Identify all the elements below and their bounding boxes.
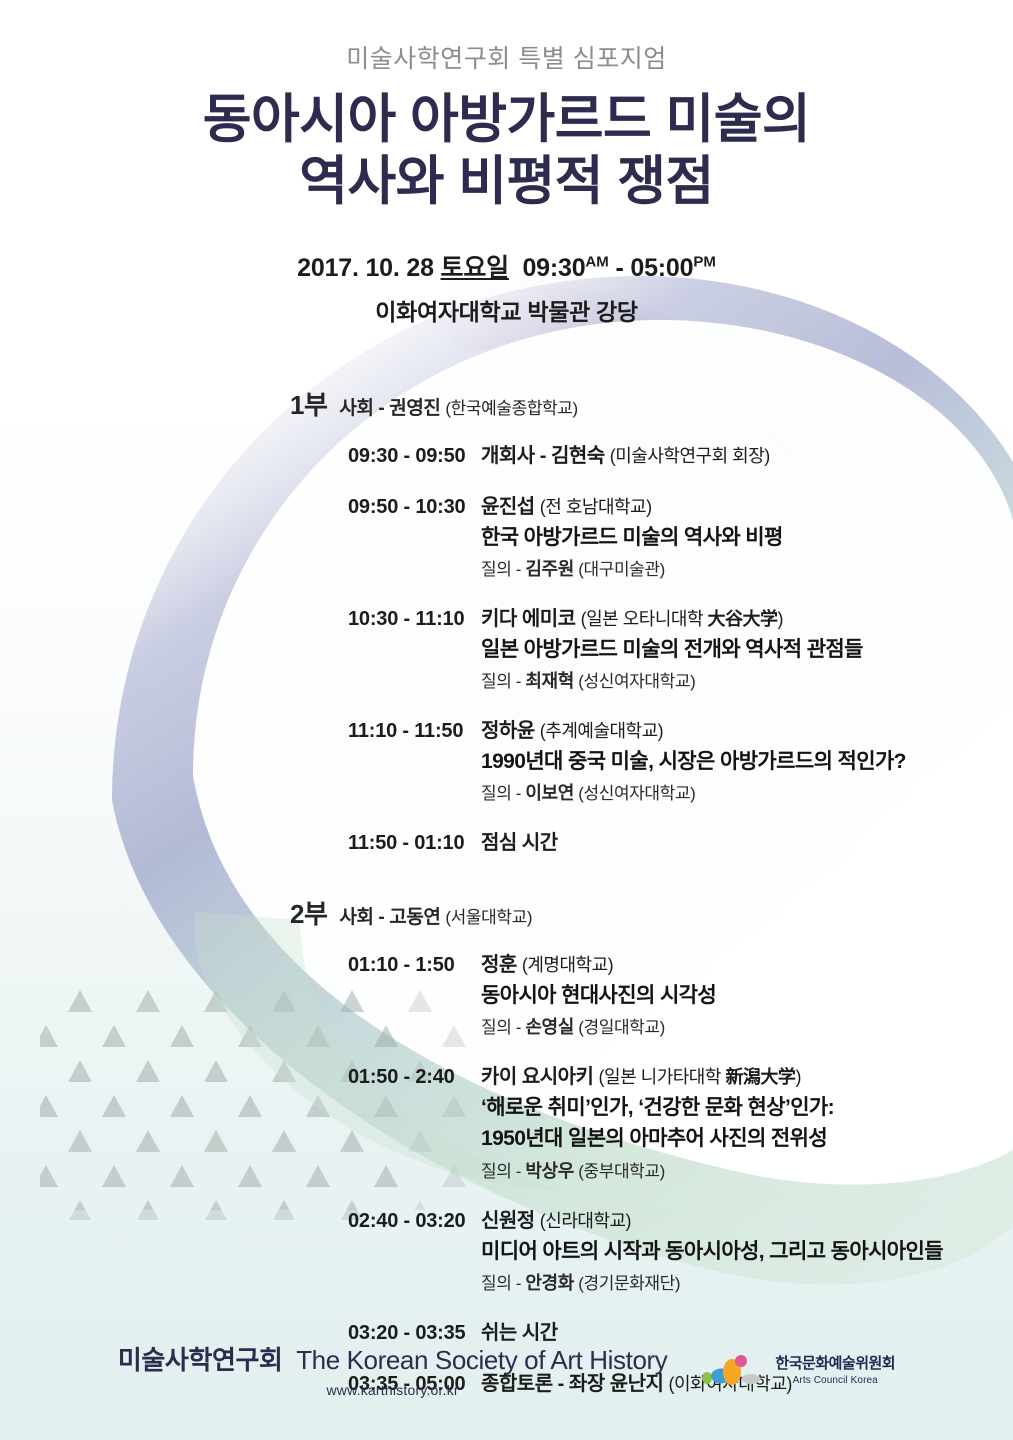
- session-row-list: 09:30 - 09:50개회사 - 김현숙 (미술사학연구회 회장)09:50…: [0, 442, 1013, 858]
- society-name: 미술사학연구회 The Korean Society of Art Histor…: [118, 1340, 668, 1377]
- part-chair-affiliation: (한국예술종합학교): [445, 399, 577, 418]
- society-url[interactable]: www.karthistory.or.kr: [118, 1382, 668, 1398]
- discussant-affiliation: (경기문화재단): [578, 1274, 680, 1293]
- session-paper-title: ‘해로운 취미’인가, ‘건강한 문화 현상’인가:: [481, 1093, 1013, 1123]
- sponsor-name-en: Arts Council Korea: [775, 1375, 895, 1386]
- discussant-affiliation: (성신여자대학교): [578, 672, 695, 691]
- session-speaker: 카이 요시아키 (일본 니가타대학 新潟大学): [481, 1063, 1013, 1092]
- part-header: 2부사회 - 고동연 (서울대학교): [290, 894, 1013, 931]
- kicker-text: 미술사학연구회 특별 심포지엄: [0, 44, 1013, 75]
- session-detail: 카이 요시아키 (일본 니가타대학 新潟大学)‘해로운 취미’인가, ‘건강한 …: [481, 1063, 1013, 1185]
- event-time-start-suffix: AM: [585, 253, 608, 270]
- event-time-end: 05:00: [630, 254, 693, 282]
- part-number: 1부: [290, 385, 327, 422]
- event-time-start: 09:30: [522, 254, 585, 282]
- sponsor-text: 한국문화예술위원회 Arts Council Korea: [775, 1356, 895, 1386]
- part-chair: 사회 - 고동연 (서울대학교): [339, 902, 532, 929]
- event-datetime: 2017. 10. 28 토요일 09:30AM - 05:00PM: [0, 248, 1013, 284]
- programme-part: 1부사회 - 권영진 (한국예술종합학교)09:30 - 09:50개회사 - …: [0, 385, 1013, 858]
- speaker-affiliation: (일본 니가타대학 新潟大学): [599, 1067, 801, 1087]
- discussant-name: 최재혁: [525, 671, 573, 691]
- event-venue: 이화여자대학교 박물관 강당: [0, 293, 1013, 327]
- part-header: 1부사회 - 권영진 (한국예술종합학교): [290, 385, 1013, 422]
- session-row: 01:50 - 2:40카이 요시아키 (일본 니가타대학 新潟大学)‘해로운 …: [0, 1063, 1013, 1185]
- session-speaker: 신원정 (신라대학교): [481, 1207, 1013, 1236]
- session-detail: 개회사 - 김현숙 (미술사학연구회 회장): [481, 442, 1013, 471]
- discussant-name: 이보연: [525, 783, 573, 803]
- sponsor-logo: 한국문화예술위원회 Arts Council Korea: [701, 1353, 895, 1389]
- session-time: 01:50 - 2:40: [348, 1063, 481, 1092]
- session-affiliation: (미술사학연구회 회장): [610, 446, 770, 466]
- session-speaker: 정하윤 (추계예술대학교): [481, 717, 1013, 746]
- session-paper-title: 한국 아방가르드 미술의 역사와 비평: [481, 523, 1013, 553]
- session-speaker: 정훈 (계명대학교): [481, 951, 1013, 980]
- part-chair-affiliation: (서울대학교): [445, 908, 532, 927]
- session-paper-title-line2: 1950년대 일본의 아마추어 사진의 전위성: [481, 1124, 1013, 1154]
- session-plain-text: 점심 시간: [481, 829, 1013, 858]
- session-discussant: 질의 - 손영실 (경일대학교): [481, 1014, 1013, 1041]
- page-title: 동아시아 아방가르드 미술의 역사와 비평적 쟁점: [0, 89, 1013, 212]
- session-time: 09:50 - 10:30: [348, 493, 481, 522]
- poster-root: 미술사학연구회 특별 심포지엄 동아시아 아방가르드 미술의 역사와 비평적 쟁…: [0, 0, 1013, 1440]
- session-row: 11:10 - 11:50정하윤 (추계예술대학교)1990년대 중국 미술, …: [0, 717, 1013, 807]
- event-date: 2017. 10. 28: [297, 254, 434, 282]
- session-row: 09:30 - 09:50개회사 - 김현숙 (미술사학연구회 회장): [0, 442, 1013, 471]
- discussant-affiliation: (중부대학교): [578, 1162, 665, 1181]
- session-time: 11:10 - 11:50: [348, 717, 481, 746]
- part-number: 2부: [290, 894, 327, 931]
- title-line-2: 역사와 비평적 쟁점: [0, 151, 1013, 212]
- session-detail: 점심 시간: [481, 829, 1013, 858]
- event-time-end-suffix: PM: [693, 253, 716, 270]
- session-row-list: 01:10 - 1:50정훈 (계명대학교)동아시아 현대사진의 시각성질의 -…: [0, 951, 1013, 1399]
- sponsor-name-ko: 한국문화예술위원회: [775, 1356, 895, 1373]
- session-detail: 신원정 (신라대학교)미디어 아트의 시작과 동아시아성, 그리고 동아시아인들…: [481, 1207, 1013, 1297]
- session-discussant: 질의 - 김주원 (대구미술관): [481, 556, 1013, 583]
- session-speaker: 키다 에미코 (일본 오타니대학 大谷大学): [481, 605, 1013, 634]
- society-block: 미술사학연구회 The Korean Society of Art Histor…: [118, 1340, 668, 1398]
- session-plain-text: 개회사 - 김현숙 (미술사학연구회 회장): [481, 442, 1013, 471]
- session-paper-title: 일본 아방가르드 미술의 전개와 역사적 관점들: [481, 635, 1013, 665]
- programme-schedule: 1부사회 - 권영진 (한국예술종합학교)09:30 - 09:50개회사 - …: [0, 385, 1013, 1399]
- society-name-en: The Korean Society of Art History: [296, 1345, 667, 1375]
- discussant-name: 박상우: [525, 1161, 573, 1181]
- speaker-affiliation: (일본 오타니대학 大谷大学): [581, 609, 783, 629]
- session-time: 01:10 - 1:50: [348, 951, 481, 980]
- speaker-affiliation: (신라대학교): [540, 1211, 631, 1231]
- speaker-affiliation-cjk: 新潟大学: [725, 1067, 795, 1087]
- session-detail: 정하윤 (추계예술대학교)1990년대 중국 미술, 시장은 아방가르드의 적인…: [481, 717, 1013, 807]
- session-time: 02:40 - 03:20: [348, 1207, 481, 1236]
- session-time: 10:30 - 11:10: [348, 605, 481, 634]
- session-discussant: 질의 - 최재혁 (성신여자대학교): [481, 668, 1013, 695]
- session-time: 09:30 - 09:50: [348, 442, 481, 471]
- session-row: 11:50 - 01:10점심 시간: [0, 829, 1013, 858]
- session-time: 11:50 - 01:10: [348, 829, 481, 858]
- session-discussant: 질의 - 이보연 (성신여자대학교): [481, 780, 1013, 807]
- speaker-affiliation: (추계예술대학교): [540, 721, 663, 741]
- session-row: 09:50 - 10:30윤진섭 (전 호남대학교)한국 아방가르드 미술의 역…: [0, 493, 1013, 583]
- session-discussant: 질의 - 안경화 (경기문화재단): [481, 1270, 1013, 1297]
- session-speaker: 윤진섭 (전 호남대학교): [481, 493, 1013, 522]
- event-time-dash: -: [615, 254, 623, 282]
- speaker-affiliation: (전 호남대학교): [540, 497, 652, 517]
- discussant-name: 안경화: [525, 1273, 573, 1293]
- part-chair: 사회 - 권영진 (한국예술종합학교): [339, 393, 577, 420]
- discussant-affiliation: (대구미술관): [578, 560, 665, 579]
- discussant-affiliation: (성신여자대학교): [578, 784, 695, 803]
- session-discussant: 질의 - 박상우 (중부대학교): [481, 1158, 1013, 1185]
- poster-footer: 미술사학연구회 The Korean Society of Art Histor…: [0, 1340, 1013, 1398]
- session-detail: 정훈 (계명대학교)동아시아 현대사진의 시각성질의 - 손영실 (경일대학교): [481, 951, 1013, 1041]
- session-row: 01:10 - 1:50정훈 (계명대학교)동아시아 현대사진의 시각성질의 -…: [0, 951, 1013, 1041]
- society-name-ko: 미술사학연구회: [118, 1345, 283, 1375]
- discussant-name: 손영실: [525, 1017, 573, 1037]
- session-paper-title: 동아시아 현대사진의 시각성: [481, 981, 1013, 1011]
- programme-part: 2부사회 - 고동연 (서울대학교)01:10 - 1:50정훈 (계명대학교)…: [0, 894, 1013, 1399]
- speaker-affiliation-cjk: 大谷大学: [708, 609, 778, 629]
- speaker-affiliation: (계명대학교): [522, 955, 613, 975]
- discussant-affiliation: (경일대학교): [578, 1018, 665, 1037]
- arts-council-korea-mark-icon: [701, 1353, 765, 1389]
- event-weekday: 토요일: [441, 254, 509, 282]
- session-row: 10:30 - 11:10키다 에미코 (일본 오타니대학 大谷大学)일본 아방…: [0, 605, 1013, 695]
- session-detail: 키다 에미코 (일본 오타니대학 大谷大学)일본 아방가르드 미술의 전개와 역…: [481, 605, 1013, 695]
- discussant-name: 김주원: [525, 559, 573, 579]
- session-paper-title: 미디어 아트의 시작과 동아시아성, 그리고 동아시아인들: [481, 1237, 1013, 1267]
- session-paper-title: 1990년대 중국 미술, 시장은 아방가르드의 적인가?: [481, 747, 1013, 777]
- poster-header: 미술사학연구회 특별 심포지엄 동아시아 아방가르드 미술의 역사와 비평적 쟁…: [0, 0, 1013, 327]
- session-row: 02:40 - 03:20신원정 (신라대학교)미디어 아트의 시작과 동아시아…: [0, 1207, 1013, 1297]
- session-detail: 윤진섭 (전 호남대학교)한국 아방가르드 미술의 역사와 비평질의 - 김주원…: [481, 493, 1013, 583]
- title-line-1: 동아시아 아방가르드 미술의: [0, 89, 1013, 150]
